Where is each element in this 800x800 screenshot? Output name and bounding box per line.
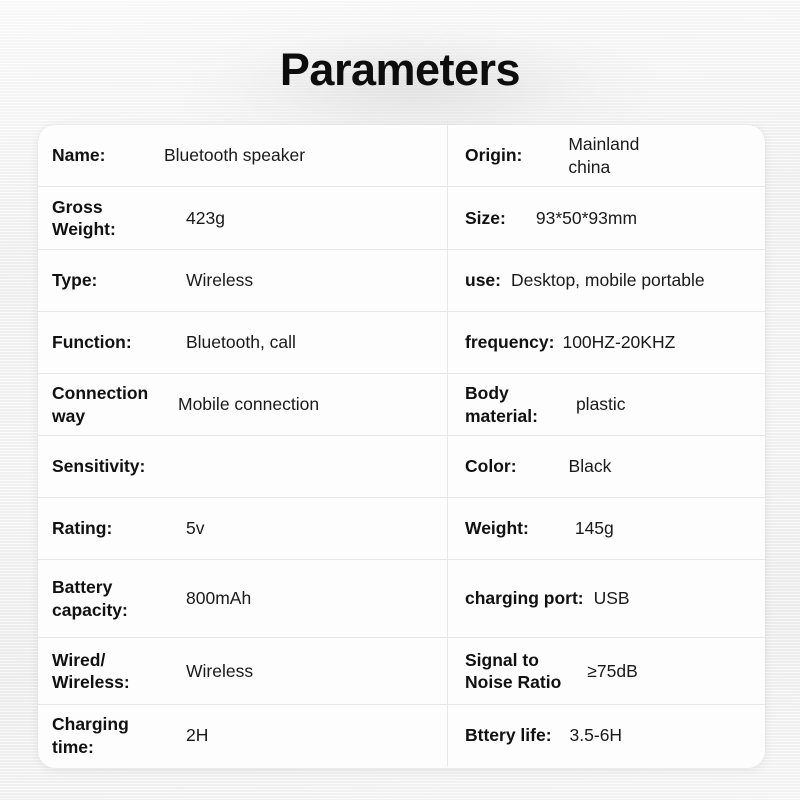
spec-value: Wireless	[160, 660, 447, 682]
spec-label: Sensitivity:	[52, 455, 160, 477]
table-row: Sensitivity: Color: Black	[38, 436, 765, 498]
spec-cell-signal-noise-ratio: Signal to Noise Ratio ≥75dB	[448, 638, 765, 704]
spec-cell-size: Size: 93*50*93mm	[448, 187, 765, 249]
spec-value: 93*50*93mm	[506, 207, 637, 229]
spec-value: Wireless	[160, 269, 447, 291]
spec-label: frequency:	[465, 331, 554, 353]
table-row: Gross Weight: 423g Size: 93*50*93mm	[38, 187, 765, 250]
spec-label: Color:	[465, 455, 517, 477]
spec-label: use:	[465, 269, 501, 291]
spec-label: Function:	[52, 331, 160, 353]
spec-value: 100HZ-20KHZ	[554, 331, 675, 353]
spec-cell-rating: Rating: 5v	[38, 498, 448, 559]
spec-cell-battery-life: Bttery life: 3.5-6H	[448, 705, 765, 766]
spec-cell-gross-weight: Gross Weight: 423g	[38, 187, 448, 249]
spec-label: Weight:	[465, 517, 529, 539]
spec-label: Gross Weight:	[52, 196, 160, 241]
spec-cell-origin: Origin: Mainland china	[448, 125, 765, 186]
spec-cell-battery-capacity: Battery capacity: 800mAh	[38, 560, 448, 637]
table-row: Type: Wireless use: Desktop, mobile port…	[38, 250, 765, 312]
table-row: Function: Bluetooth, call frequency: 100…	[38, 312, 765, 374]
page-title: Parameters	[0, 44, 800, 96]
spec-cell-frequency: frequency: 100HZ-20KHZ	[448, 312, 765, 373]
spec-value: Mainland china	[522, 133, 639, 178]
spec-label: Battery capacity:	[52, 576, 160, 621]
spec-label: Type:	[52, 269, 160, 291]
table-row: Wired/ Wireless: Wireless Signal to Nois…	[38, 638, 765, 705]
spec-value: Bluetooth speaker	[160, 144, 447, 166]
spec-label: Name:	[52, 144, 160, 166]
spec-value: plastic	[538, 393, 626, 415]
table-row: Charging time: 2H Bttery life: 3.5-6H	[38, 705, 765, 766]
spec-label: charging port:	[465, 587, 584, 609]
spec-value: USB	[584, 587, 630, 609]
spec-cell-charging-time: Charging time: 2H	[38, 705, 448, 766]
spec-cell-name: Name: Bluetooth speaker	[38, 125, 448, 186]
spec-cell-weight: Weight: 145g	[448, 498, 765, 559]
spec-value: ≥75dB	[561, 660, 637, 682]
spec-value: 5v	[160, 517, 447, 539]
spec-cell-type: Type: Wireless	[38, 250, 448, 311]
spec-value: 3.5-6H	[552, 724, 623, 746]
table-row: Connection way Mobile connection Body ma…	[38, 374, 765, 436]
spec-value: 145g	[529, 517, 614, 539]
spec-cell-sensitivity: Sensitivity:	[38, 436, 448, 497]
spec-cell-color: Color: Black	[448, 436, 765, 497]
table-row: Battery capacity: 800mAh charging port: …	[38, 560, 765, 638]
spec-value: Bluetooth, call	[160, 331, 447, 353]
spec-value: Mobile connection	[160, 393, 447, 415]
spec-label: Size:	[465, 207, 506, 229]
spec-cell-charging-port: charging port: USB	[448, 560, 765, 637]
spec-label: Body material:	[465, 382, 538, 427]
spec-cell-body-material: Body material: plastic	[448, 374, 765, 435]
spec-label: Rating:	[52, 517, 160, 539]
spec-value: Desktop, mobile portable	[501, 269, 705, 291]
table-row: Rating: 5v Weight: 145g	[38, 498, 765, 560]
spec-cell-function: Function: Bluetooth, call	[38, 312, 448, 373]
spec-value: Black	[517, 455, 612, 477]
spec-value: 423g	[160, 207, 447, 229]
spec-label: Origin:	[465, 144, 522, 166]
spec-cell-use: use: Desktop, mobile portable	[448, 250, 765, 311]
spec-cell-connection-way: Connection way Mobile connection	[38, 374, 448, 435]
spec-label: Connection way	[52, 382, 160, 427]
spec-label: Charging time:	[52, 713, 160, 758]
spec-value: 800mAh	[160, 587, 447, 609]
table-row: Name: Bluetooth speaker Origin: Mainland…	[38, 125, 765, 187]
product-parameters-page: Parameters Name: Bluetooth speaker Origi…	[0, 0, 800, 800]
spec-label: Signal to Noise Ratio	[465, 649, 561, 694]
spec-label: Bttery life:	[465, 724, 552, 746]
spec-label: Wired/ Wireless:	[52, 649, 160, 694]
spec-value: 2H	[160, 724, 447, 746]
spec-cell-wired-wireless: Wired/ Wireless: Wireless	[38, 638, 448, 704]
specifications-table: Name: Bluetooth speaker Origin: Mainland…	[38, 125, 765, 768]
